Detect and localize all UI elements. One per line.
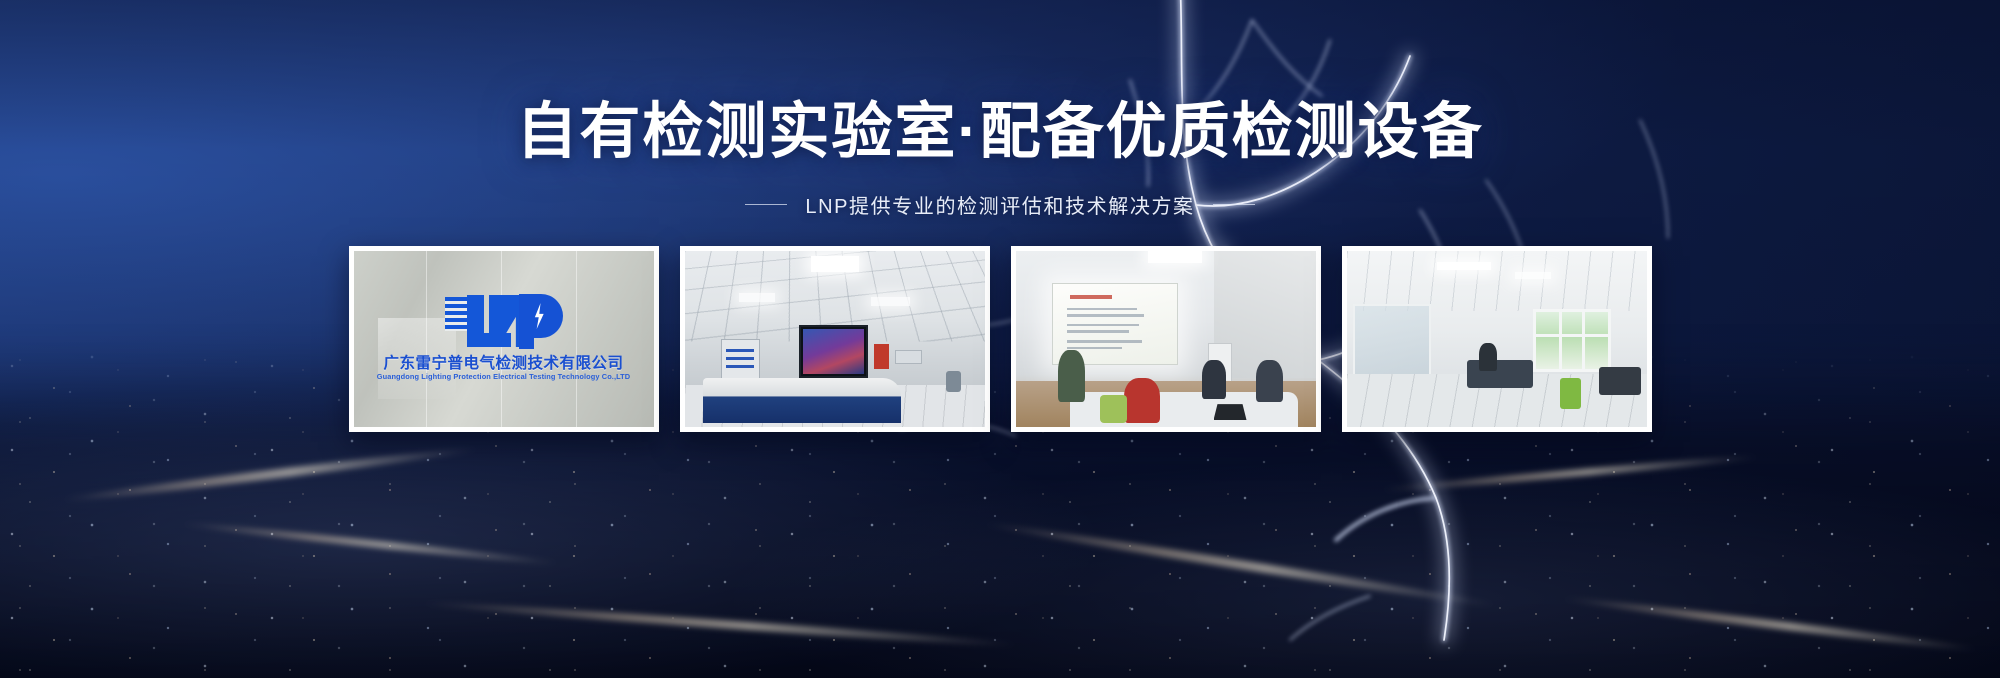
person-presenter bbox=[1058, 350, 1085, 403]
company-name-cn: 广东雷宁普电气检测技术有限公司 bbox=[354, 351, 654, 373]
photo-image-training-room bbox=[1016, 251, 1316, 427]
person-seated bbox=[1256, 360, 1283, 402]
hero-banner: 自有检测实验室·配备优质检测设备 LNP提供专业的检测评估和技术解决方案 bbox=[0, 0, 2000, 678]
rule-right-decoration bbox=[1213, 204, 1255, 205]
rule-left-decoration bbox=[745, 204, 787, 205]
page-title: 自有检测实验室·配备优质检测设备 bbox=[0, 96, 2000, 168]
photo-image-office bbox=[1347, 251, 1647, 427]
gallery-photo-office[interactable] bbox=[1342, 246, 1652, 432]
photo-image-lobby-sign: 广东雷宁普电气检测技术有限公司 Guangdong Lighting Prote… bbox=[354, 251, 654, 427]
gallery-photo-lobby-sign[interactable]: 广东雷宁普电气检测技术有限公司 Guangdong Lighting Prote… bbox=[349, 246, 659, 432]
person-seated bbox=[1124, 378, 1160, 424]
person-seated bbox=[1202, 360, 1226, 399]
lnp-logo-icon bbox=[354, 289, 654, 354]
gallery-photo-training-room[interactable] bbox=[1011, 246, 1321, 432]
photo-gallery-strip: 广东雷宁普电气检测技术有限公司 Guangdong Lighting Prote… bbox=[0, 246, 2000, 432]
person-at-desk bbox=[1479, 343, 1497, 371]
photo-image-testing-lab bbox=[685, 251, 985, 427]
gallery-photo-testing-lab[interactable] bbox=[680, 246, 990, 432]
page-subtitle: LNP提供专业的检测评估和技术解决方案 bbox=[805, 190, 1194, 219]
subtitle-row: LNP提供专业的检测评估和技术解决方案 bbox=[0, 190, 2000, 219]
company-name-en: Guangdong Lighting Protection Electrical… bbox=[354, 372, 654, 381]
banner-copy-block: 自有检测实验室·配备优质检测设备 LNP提供专业的检测评估和技术解决方案 bbox=[0, 96, 2000, 219]
